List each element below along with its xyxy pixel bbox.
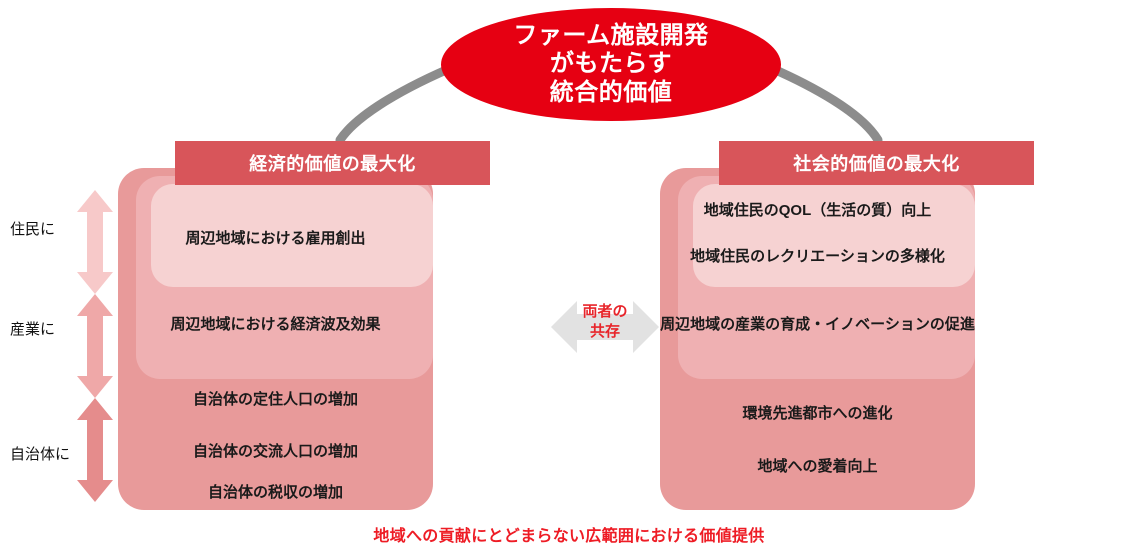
side-label-residents: 住民に — [10, 218, 82, 239]
right-item-4: 環境先進都市への進化 — [660, 402, 975, 423]
left-item-5: 自治体の税収の増加 — [118, 481, 433, 502]
vertical-arrow-residents-icon — [77, 190, 113, 294]
left-panel-header: 経済的価値の最大化 — [175, 141, 490, 185]
right-item-5: 地域への愛着向上 — [660, 455, 975, 476]
footer-caption: 地域への貢献にとどまらない広範囲における価値提供 — [0, 522, 1138, 546]
right-item-2: 地域住民のレクリエーションの多様化 — [660, 245, 975, 266]
left-item-3: 自治体の定住人口の増加 — [118, 388, 433, 409]
hero-line-3: 統合的価値 — [550, 79, 673, 107]
right-panel-header: 社会的価値の最大化 — [719, 141, 1034, 185]
hero-line-2: がもたらす — [550, 50, 672, 78]
hero-line-1: ファーム施設開発 — [513, 22, 708, 50]
side-label-industry: 産業に — [10, 318, 82, 339]
hero-ellipse: ファーム施設開発 がもたらす 統合的価値 — [441, 8, 781, 121]
right-item-3: 周辺地域の産業の育成・イノベーションの促進 — [660, 313, 975, 334]
coexistence-line-2: 共存 — [551, 322, 659, 342]
vertical-arrow-industry-icon — [77, 294, 113, 398]
diagram-canvas: ファーム施設開発 がもたらす 統合的価値 経済的価値の最大化 周辺地域における雇… — [0, 0, 1138, 557]
coexistence-line-1: 両者の — [551, 302, 659, 322]
vertical-arrow-municipality-icon — [77, 398, 113, 502]
right-panel-header-label: 社会的価値の最大化 — [793, 150, 960, 176]
left-item-4: 自治体の交流人口の増加 — [118, 440, 433, 461]
left-panel-header-label: 経済的価値の最大化 — [249, 150, 416, 176]
side-label-municipality: 自治体に — [10, 443, 82, 464]
coexistence-label: 両者の 共存 — [551, 302, 659, 343]
right-item-1: 地域住民のQOL（生活の質）向上 — [660, 199, 975, 220]
left-item-2: 周辺地域における経済波及効果 — [118, 313, 433, 334]
left-item-1: 周辺地域における雇用創出 — [118, 227, 433, 248]
